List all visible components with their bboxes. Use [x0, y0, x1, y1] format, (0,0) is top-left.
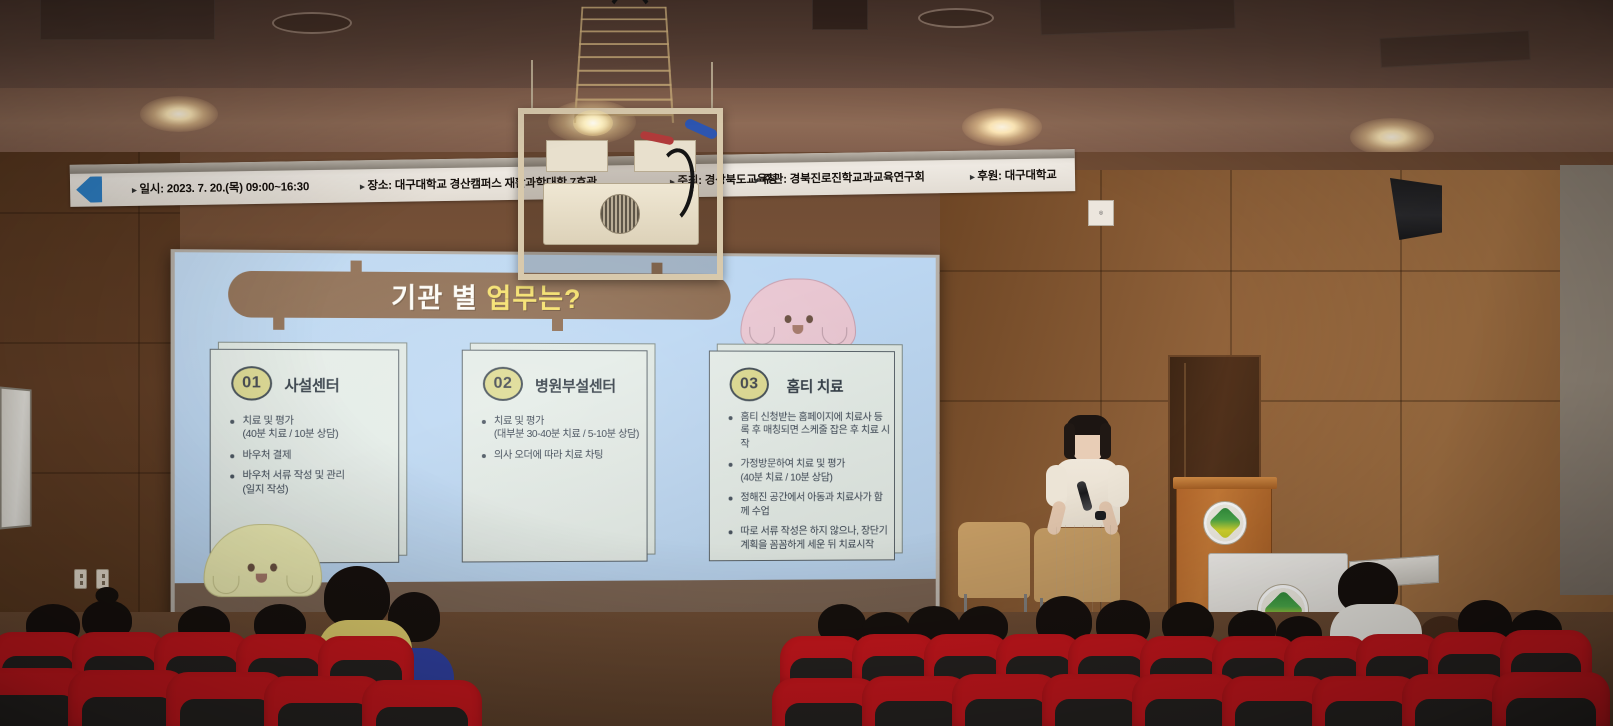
stage-chair[interactable] — [958, 522, 1030, 598]
card-03-bullets: 홈티 신청받는 홈페이지에 치료사 등록 후 매칭되면 스케줄 잡은 후 치료 … — [728, 411, 890, 559]
bullet-main: 따로 서류 작성은 하지 않으나, 장단기 계획을 꼼꼼하게 세운 뒤 치료시작 — [740, 526, 887, 551]
slide-title-main: 기관 별 — [391, 283, 486, 314]
bullet-main: 정해진 공간에서 아동과 치료사가 함께 수업 — [740, 493, 882, 518]
projector-fan-icon — [600, 194, 640, 234]
bullet-item: 바우처 서류 작성 및 관리 (일지 작성) — [229, 470, 392, 497]
card-02-badge: 02 — [483, 367, 523, 401]
bullet-sub: (40분 치료 / 10분 상담) — [740, 471, 890, 485]
bullet-item: 치료 및 평가 (40분 치료 / 10분 상담) — [229, 415, 392, 442]
banner-segment-organizer: 주관: 경북진로진학교과교육연구회 — [755, 168, 925, 187]
lectern-top — [1173, 477, 1277, 489]
projector-rod — [711, 62, 713, 112]
projection-screen: 기관 별 업무는? 01 사설센터 치료 및 평가 — [175, 252, 936, 622]
university-emblem-icon — [1203, 501, 1247, 545]
wall-outlet[interactable] — [74, 569, 87, 589]
ceiling-downlight — [962, 108, 1042, 146]
ceiling-downlight — [1350, 118, 1434, 156]
projector-lamp-glow — [573, 110, 613, 136]
bullet-item: 치료 및 평가 (대부분 30-40분 치료 / 5-10분 상담) — [481, 415, 643, 442]
projector-rod — [531, 60, 533, 112]
card-01-title: 사설센터 — [284, 374, 339, 395]
card-03: 03 홈티 치료 홈티 신청받는 홈페이지에 치료사 등록 후 매칭되면 스케줄… — [709, 351, 895, 562]
wall-outlet[interactable] — [96, 569, 109, 589]
lecture-hall-scene: ◎ 일시: 2023. 7. 20.(목) 09:00~16:30 장소: 대구… — [0, 0, 1613, 726]
ceiling-panel — [40, 0, 215, 40]
ceiling-vent-ring — [918, 8, 994, 28]
ceiling-vent — [812, 0, 868, 30]
card-02-bullets: 치료 및 평가 (대부분 30-40분 치료 / 5-10분 상담) 의사 오더… — [481, 415, 643, 470]
banner-logo-icon — [76, 176, 102, 202]
bullet-main: 의사 오더에 따라 치료 차팅 — [494, 450, 603, 461]
bullet-main: 바우처 서류 작성 및 관리 — [242, 471, 344, 482]
bullet-main: 바우처 결제 — [242, 450, 291, 461]
wristwatch-icon — [1095, 511, 1106, 520]
wall-notice-sign: ◎ — [1088, 200, 1114, 226]
bullet-main: 홈티 신청받는 홈페이지에 치료사 등록 후 매칭되면 스케줄 잡은 후 치료 … — [740, 412, 889, 450]
card-02-number: 02 — [494, 375, 513, 393]
bullet-main: 치료 및 평가 — [494, 416, 544, 427]
bullet-sub: (대부분 30-40분 치료 / 5-10분 상담) — [494, 428, 643, 441]
card-03-number: 03 — [740, 375, 758, 393]
right-pillar — [1560, 165, 1613, 595]
ceiling-panel — [1039, 0, 1235, 35]
pink-blob-mascot-icon — [740, 278, 856, 350]
slide-title-highlight: 업무는? — [486, 284, 581, 315]
bullet-main: 치료 및 평가 — [242, 416, 293, 427]
bullet-item: 정해진 공간에서 아동과 치료사가 함께 수업 — [728, 492, 890, 519]
presenter — [1040, 415, 1132, 620]
left-wall — [0, 152, 180, 622]
bullet-item: 의사 오더에 따라 치료 차팅 — [481, 449, 643, 463]
bullet-item: 홈티 신청받는 홈페이지에 치료사 등록 후 매칭되면 스케줄 잡은 후 치료 … — [728, 411, 890, 451]
bullet-item: 따로 서류 작성은 하지 않으나, 장단기 계획을 꼼꼼하게 세운 뒤 치료시작 — [728, 525, 890, 552]
card-02-title: 병원부설센터 — [535, 375, 616, 396]
card-01-number: 01 — [242, 374, 261, 392]
bullet-sub: (일지 작성) — [242, 483, 392, 497]
card-02: 02 병원부설센터 치료 및 평가 (대부분 30-40분 치료 / 5-10분… — [462, 350, 648, 563]
ceiling — [0, 0, 1613, 152]
banner-segment-sponsor: 후원: 대구대학교 — [970, 166, 1057, 183]
projection-screen-frame: 기관 별 업무는? 01 사설센터 치료 및 평가 — [171, 249, 940, 625]
card-01-badge: 01 — [231, 366, 272, 401]
bullet-item: 바우처 결제 — [229, 449, 392, 463]
card-01-bullets: 치료 및 평가 (40분 치료 / 10분 상담) 바우처 결제 바우처 서류 … — [229, 415, 392, 504]
card-03-badge: 03 — [730, 367, 769, 401]
banner-segment-date: 일시: 2023. 7. 20.(목) 09:00~16:30 — [132, 178, 309, 197]
ceiling-vent-ring — [272, 12, 352, 34]
slide-title: 기관 별 업무는? — [391, 276, 581, 316]
flipchart-board — [0, 386, 32, 529]
projector-panel — [546, 140, 608, 172]
ceiling-downlight — [140, 96, 218, 132]
bullet-main: 가정방문하여 치료 및 평가 — [740, 459, 845, 470]
card-03-title: 홈티 치료 — [787, 376, 844, 397]
ceiling-panel — [1379, 30, 1530, 68]
bullet-item: 가정방문하여 치료 및 평가 (40분 치료 / 10분 상담) — [728, 458, 890, 485]
bullet-sub: (40분 치료 / 10분 상담) — [242, 428, 392, 442]
